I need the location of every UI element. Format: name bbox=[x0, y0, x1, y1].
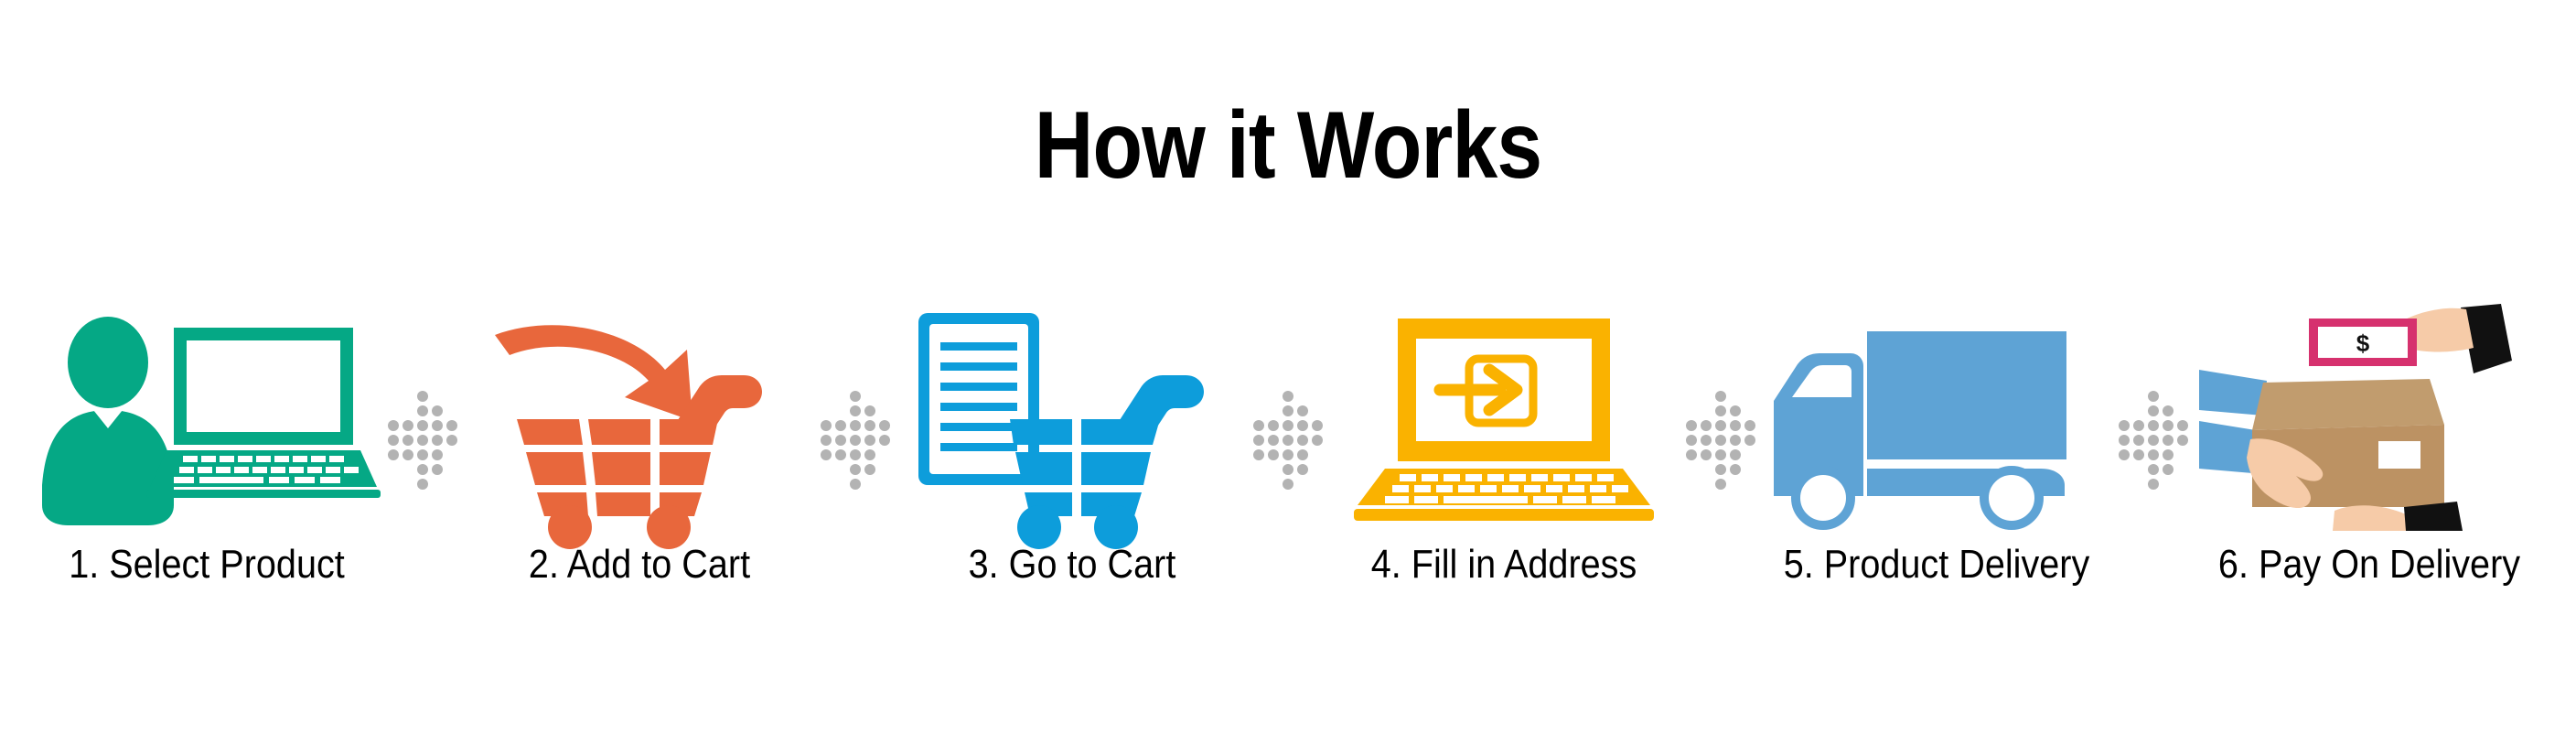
step-6-pay-on-delivery[interactable]: $ 6. Pay On Delivery bbox=[2199, 302, 2539, 632]
step-1-select-product[interactable]: 1. Select Product bbox=[37, 302, 377, 632]
step-3-label: 3. Go to Cart bbox=[918, 542, 1225, 588]
step-2-label: 2. Add to Cart bbox=[486, 542, 792, 588]
delivery-truck-icon bbox=[1766, 302, 2107, 531]
step-1-label: 1. Select Product bbox=[54, 542, 360, 588]
person-with-laptop-icon bbox=[37, 302, 377, 531]
document-with-cart-icon bbox=[902, 302, 1242, 531]
how-it-works-infographic: How it Works bbox=[0, 0, 2576, 745]
steps-row: 1. Select Product bbox=[37, 302, 2539, 632]
bill-dollar-symbol: $ bbox=[2356, 329, 2370, 357]
step-6-label: 6. Pay On Delivery bbox=[2216, 542, 2523, 588]
step-5-product-delivery[interactable]: 5. Product Delivery bbox=[1766, 302, 2107, 632]
hands-exchanging-box-and-cash-icon: $ bbox=[2199, 302, 2539, 531]
dotted-arrow-right-icon bbox=[382, 302, 463, 632]
dotted-arrow-right-icon bbox=[815, 302, 896, 632]
dotted-arrow-right-icon bbox=[2113, 302, 2194, 632]
page-title: How it Works bbox=[180, 95, 2396, 196]
step-4-fill-in-address[interactable]: 4. Fill in Address bbox=[1334, 302, 1674, 632]
laptop-with-login-arrow-icon bbox=[1334, 302, 1674, 531]
step-3-go-to-cart[interactable]: 3. Go to Cart bbox=[902, 302, 1242, 632]
step-4-label: 4. Fill in Address bbox=[1351, 542, 1658, 588]
shopping-cart-with-arrow-icon bbox=[469, 302, 810, 531]
dotted-arrow-right-icon bbox=[1248, 302, 1328, 632]
dotted-arrow-right-icon bbox=[1680, 302, 1761, 632]
step-2-add-to-cart[interactable]: 2. Add to Cart bbox=[469, 302, 810, 632]
step-5-label: 5. Product Delivery bbox=[1784, 542, 2090, 588]
